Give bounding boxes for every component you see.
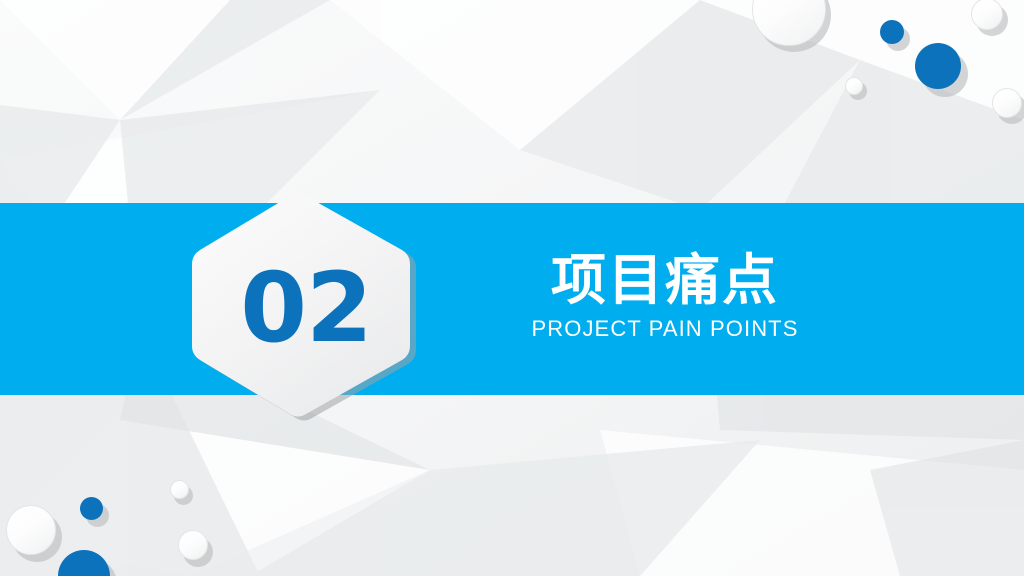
- bubble-bottom-white-tiny: [170, 480, 189, 499]
- bubble-top-small-blue: [880, 20, 904, 44]
- bubble-bottom-small-blue: [80, 497, 103, 520]
- section-number-badge: 02: [192, 192, 420, 424]
- bubble-body: [992, 88, 1022, 118]
- bubble-body: [6, 505, 56, 555]
- section-heading: 项目痛点 PROJECT PAIN POINTS: [480, 252, 850, 342]
- bubble-top-right-white-sm: [971, 0, 1003, 30]
- section-title-en: PROJECT PAIN POINTS: [480, 316, 850, 342]
- bubble-body: [80, 497, 103, 520]
- bubble-body: [845, 77, 863, 95]
- bubble-top-blue-large: [915, 43, 961, 89]
- bubble-body: [170, 480, 189, 499]
- section-number-text: 02: [192, 192, 420, 424]
- bubble-right-white-md: [992, 88, 1022, 118]
- bubble-bottom-left-white-lg: [6, 505, 56, 555]
- slide-canvas: 02 项目痛点 PROJECT PAIN POINTS: [0, 0, 1024, 576]
- section-title-cn: 项目痛点: [480, 252, 850, 310]
- bubble-body: [880, 20, 904, 44]
- bubble-body: [915, 43, 961, 89]
- bubble-bottom-white-md: [178, 530, 208, 560]
- bubble-mid-right-white-tiny: [845, 77, 863, 95]
- bubble-body: [178, 530, 208, 560]
